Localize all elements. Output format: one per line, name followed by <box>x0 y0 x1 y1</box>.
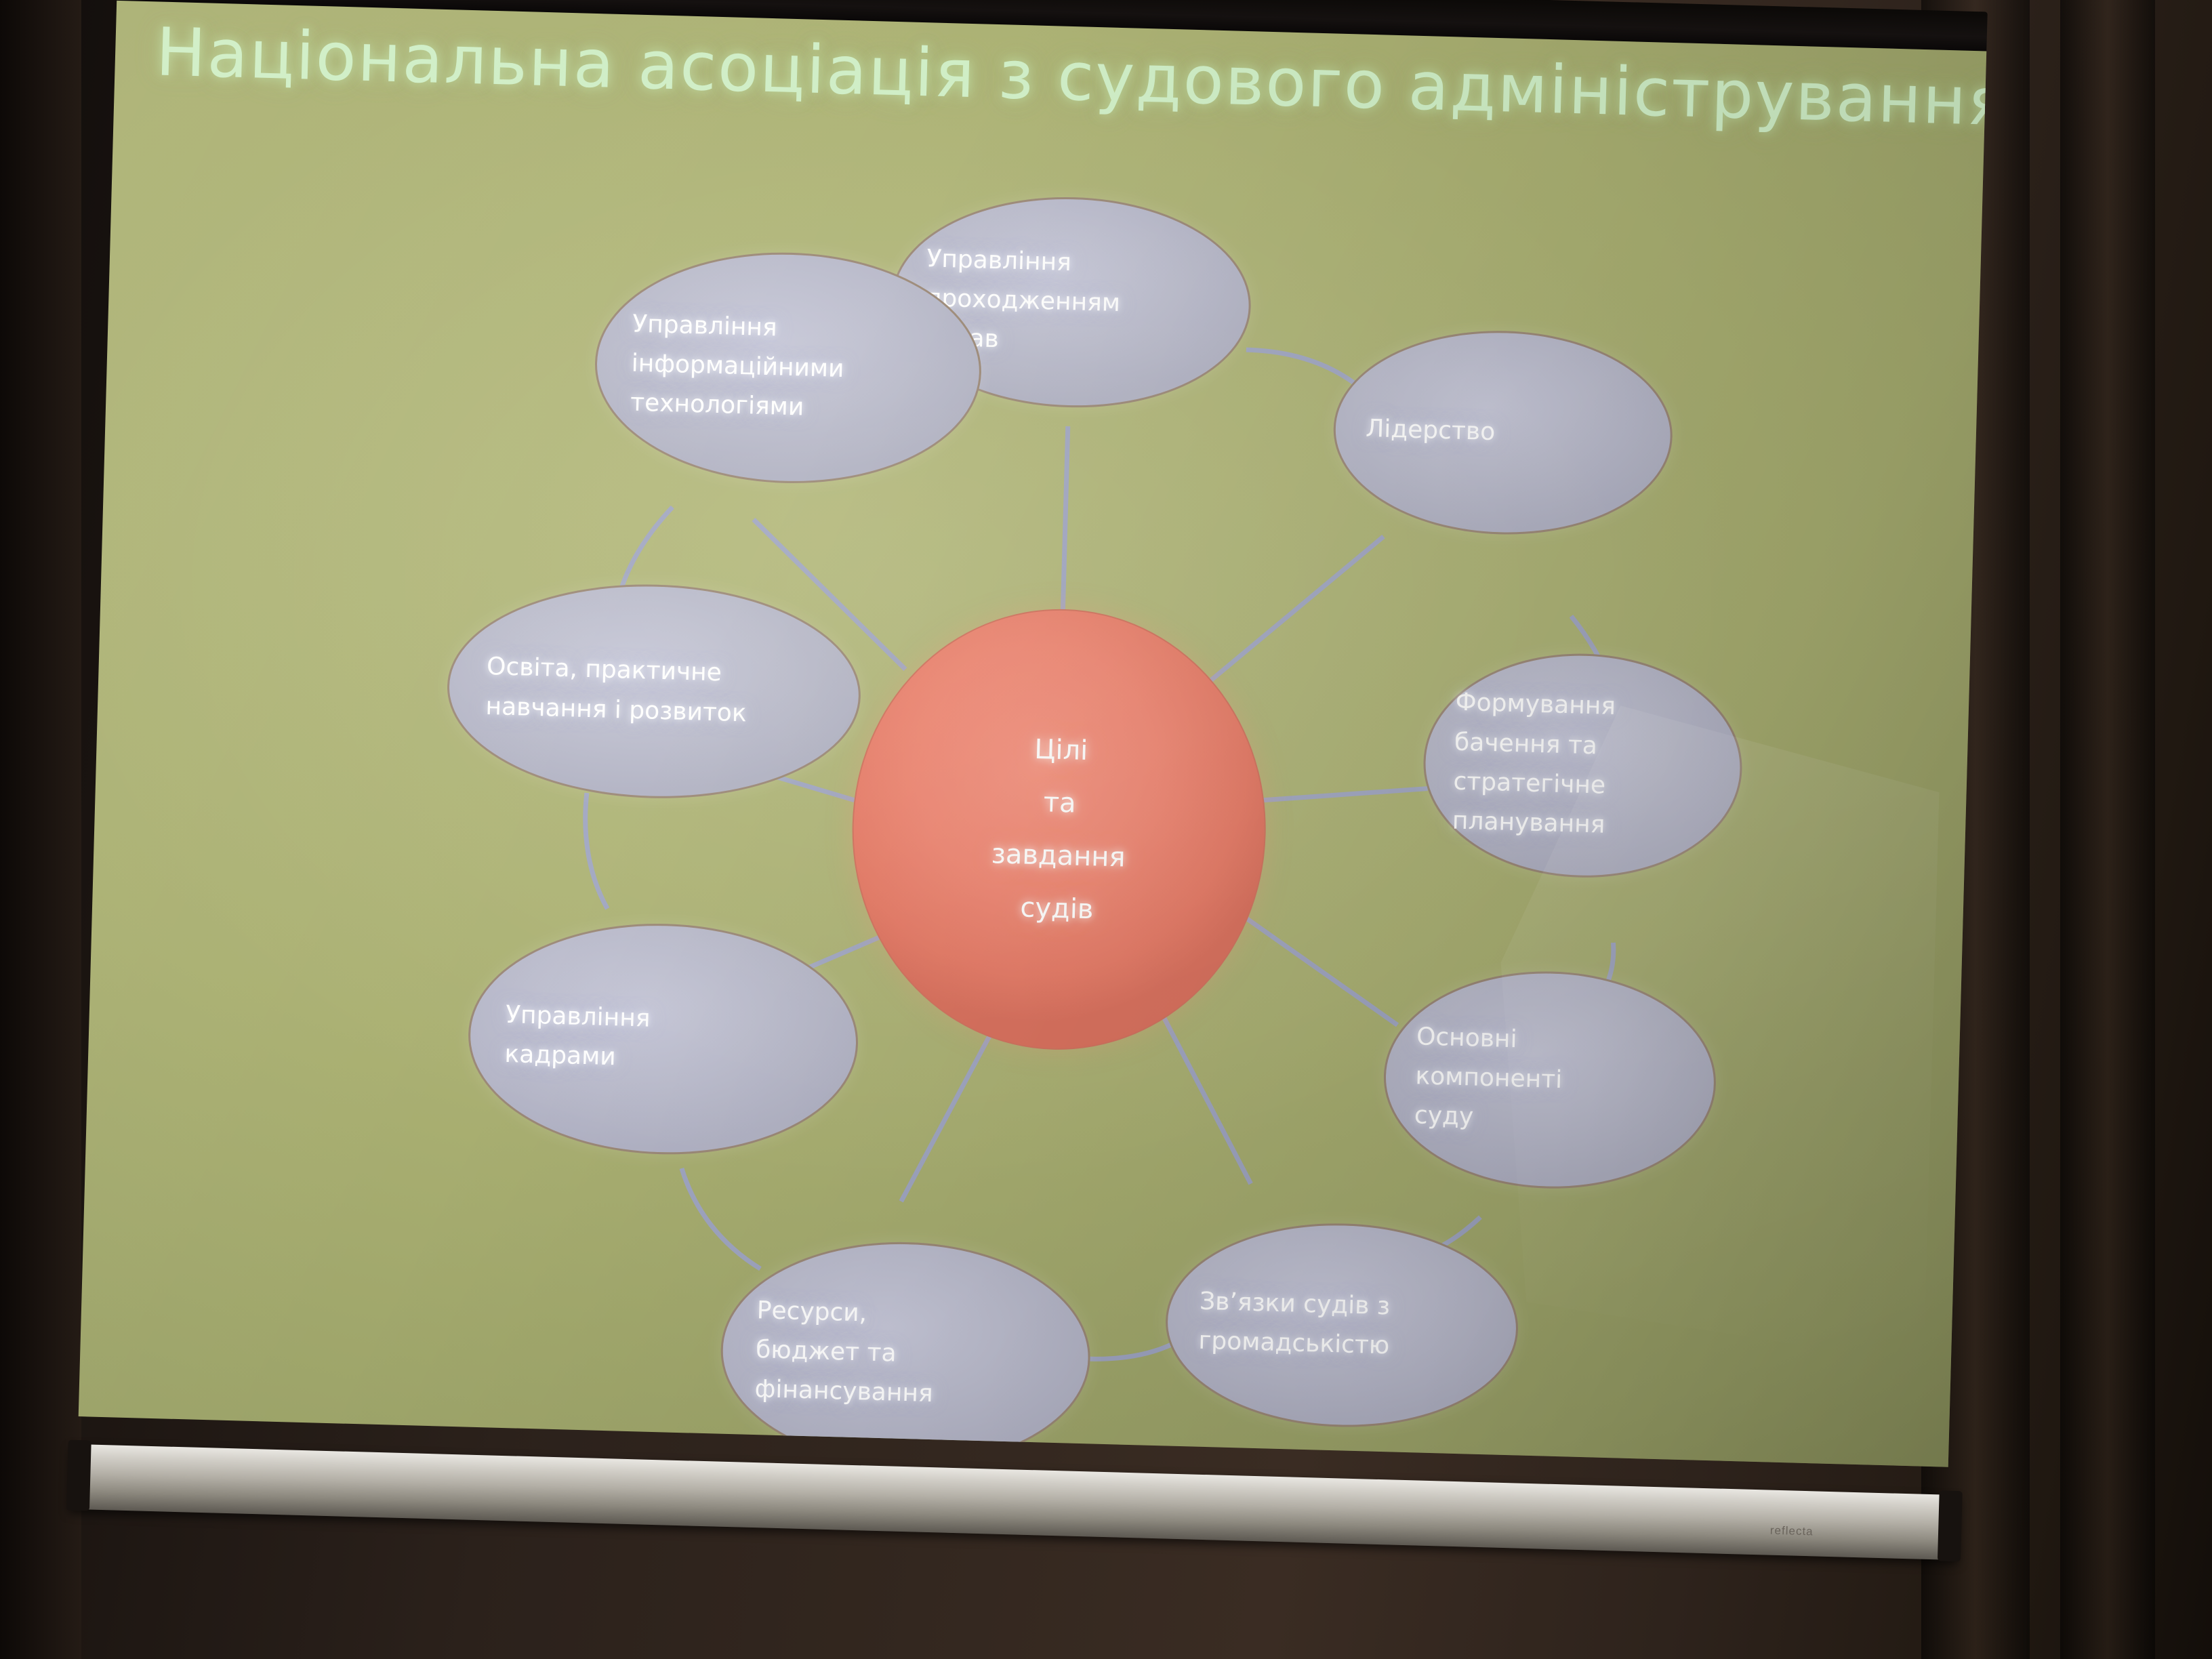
spoke-to-court-core-components <box>1235 912 1400 1025</box>
spoke-to-vision-strategy <box>1254 784 1428 806</box>
presentation-slide: Національна асоціація з судового адмініс… <box>79 1 1987 1467</box>
hub-label: Цілі та завдання судів <box>989 722 1129 937</box>
screen-bar-end-cap-right <box>1938 1490 1963 1561</box>
right-curtain-panel-2 <box>2060 0 2155 1659</box>
node-label: Зв’язки судів з громадськістю <box>1167 1281 1409 1366</box>
hub-and-spoke-diagram: Управління проходженням справ Лідерство … <box>79 1 1987 1467</box>
spoke-to-case-flow-management <box>1063 426 1068 619</box>
spoke-to-leadership <box>1210 532 1384 686</box>
ring-resources-to-hr <box>679 1168 763 1269</box>
screen-bar-end-cap-left <box>66 1440 91 1511</box>
left-wall <box>0 0 81 1659</box>
node-label: Управління кадрами <box>470 994 670 1079</box>
ring-hr-to-education <box>583 793 611 909</box>
node-label: Управління інформаційними технологіями <box>596 304 865 429</box>
spoke-to-court-public-relations <box>1153 1005 1256 1184</box>
spoke-to-resources-budget <box>901 1032 991 1204</box>
projector-screen: Національна асоціація з судового адмініс… <box>76 0 1988 1560</box>
screen-brand-label: reflecta <box>1770 1524 1814 1539</box>
node-label: Основні компоненті суду <box>1385 1017 1580 1141</box>
node-label: Формування бачення та стратегічне планув… <box>1423 682 1631 846</box>
node-label: Ресурси, бюджет та фінансування <box>721 1290 954 1414</box>
node-label: Освіта, практичне навчання і розвиток <box>448 647 769 734</box>
node-label: Лідерство <box>1335 409 1513 453</box>
